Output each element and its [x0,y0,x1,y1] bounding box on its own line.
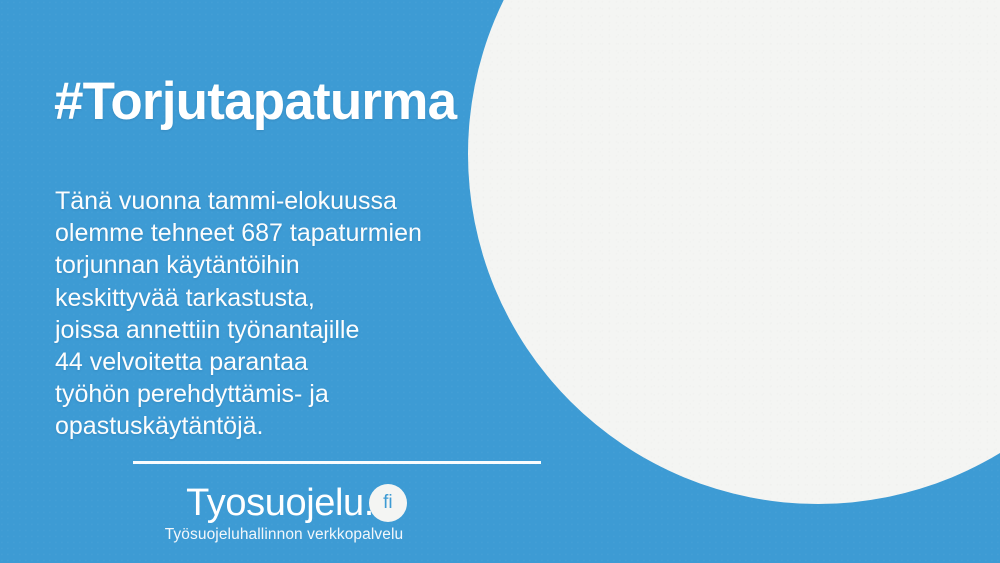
body-text-line: keskittyvää tarkastusta, [55,282,422,314]
logo-wordmark-text: Tyosuojelu. [186,482,374,524]
content-column: #Torjutapaturma Tänä vuonna tammi-elokuu… [0,0,560,563]
body-text-line: joissa annettiin työnantajille [55,314,422,346]
logo-block: Tyosuojelu. fi Työsuojeluhallinnon verkk… [0,482,560,544]
domain-badge-icon: fi [369,484,407,522]
logo-tagline: Työsuojeluhallinnon verkkopalvelu [8,525,560,544]
body-text-block: Tänä vuonna tammi-elokuussa olemme tehne… [55,185,422,443]
body-text-line: olemme tehneet 687 tapaturmien [55,217,422,249]
body-text-line: torjunnan käytäntöihin [55,249,422,281]
body-text-line: opastuskäytäntöjä. [55,410,422,442]
logo-wordmark: Tyosuojelu. fi [186,482,374,524]
body-text-line: Tänä vuonna tammi-elokuussa [55,185,422,217]
body-text-line: työhön perehdyttämis- ja [55,378,422,410]
horizontal-divider [133,461,541,464]
page-title: #Torjutapaturma [54,73,456,131]
body-text-line: 44 velvoitetta parantaa [55,346,422,378]
campaign-slide: #Torjutapaturma Tänä vuonna tammi-elokuu… [0,0,1000,563]
